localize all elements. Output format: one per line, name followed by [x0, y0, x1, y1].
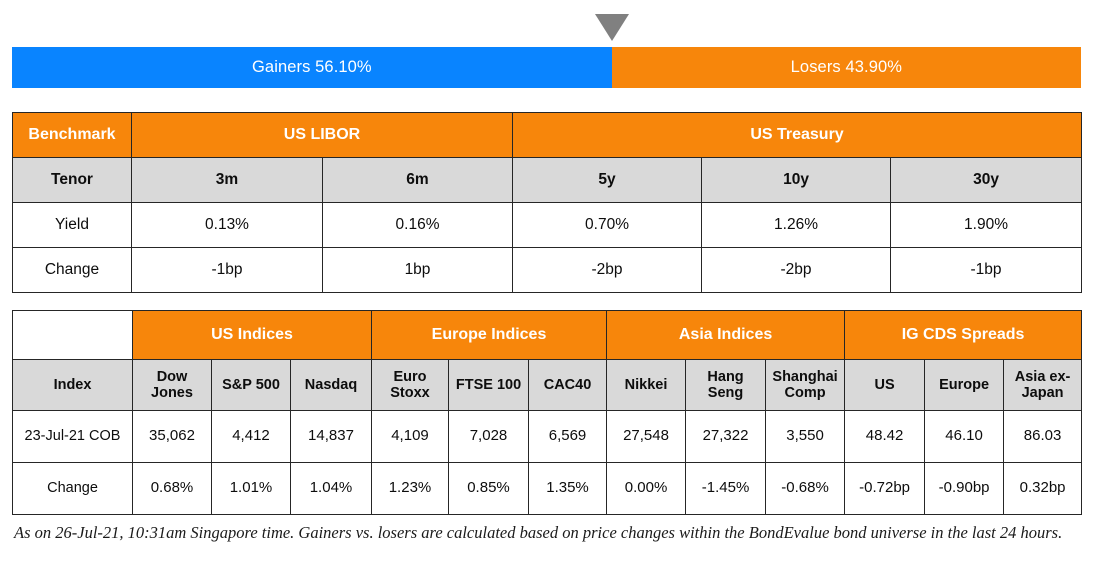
- cob-shanghai-comp: 3,550: [766, 411, 845, 463]
- cob-cds-us: 48.42: [845, 411, 925, 463]
- change-row-label: Change: [13, 248, 132, 293]
- sentiment-marker-row: [12, 12, 1081, 47]
- group-header-asia-indices: Asia Indices: [607, 311, 845, 360]
- gainers-segment[interactable]: Gainers 56.10%: [12, 47, 612, 88]
- change-nasdaq: 1.04%: [291, 463, 372, 515]
- yield-3m: 0.13%: [132, 203, 323, 248]
- change-sp-500: 1.01%: [212, 463, 291, 515]
- col-header-sp-500: S&P 500: [212, 360, 291, 411]
- cob-euro-stoxx: 4,109: [372, 411, 449, 463]
- change-dow-jones: 0.68%: [133, 463, 212, 515]
- footnote-text: As on 26-Jul-21, 10:31am Singapore time.…: [14, 521, 1064, 544]
- tenor-10y: 10y: [702, 158, 891, 203]
- change-cds-us: -0.72bp: [845, 463, 925, 515]
- cob-hang-seng: 27,322: [686, 411, 766, 463]
- col-header-ftse-100: FTSE 100: [449, 360, 529, 411]
- col-header-nikkei: Nikkei: [607, 360, 686, 411]
- cob-cds-asia-ex-japan: 86.03: [1004, 411, 1082, 463]
- group-header-us-treasury: US Treasury: [513, 113, 1082, 158]
- benchmark-corner-label: Benchmark: [13, 113, 132, 158]
- market-indices-table: US Indices Europe Indices Asia Indices I…: [12, 310, 1082, 515]
- index-row-label: Index: [13, 360, 133, 411]
- indices-column-header-row: Index Dow Jones S&P 500 Nasdaq Euro Stox…: [13, 360, 1082, 411]
- group-header-us-indices: US Indices: [133, 311, 372, 360]
- col-header-dow-jones: Dow Jones: [133, 360, 212, 411]
- cob-nasdaq: 14,837: [291, 411, 372, 463]
- losers-label: Losers 43.90%: [791, 58, 902, 77]
- indices-group-header-row: US Indices Europe Indices Asia Indices I…: [13, 311, 1082, 360]
- cob-row-label: 23-Jul-21 COB: [13, 411, 133, 463]
- benchmark-rates-table: Benchmark US LIBOR US Treasury Tenor 3m …: [12, 112, 1082, 293]
- col-header-shanghai-comp: Shanghai Comp: [766, 360, 845, 411]
- col-header-cds-europe: Europe: [925, 360, 1004, 411]
- yield-row-label: Yield: [13, 203, 132, 248]
- tenor-3m: 3m: [132, 158, 323, 203]
- tenor-row: Tenor 3m 6m 5y 10y 30y: [13, 158, 1082, 203]
- cob-sp-500: 4,412: [212, 411, 291, 463]
- col-header-cds-asia-ex-japan: Asia ex-Japan: [1004, 360, 1082, 411]
- change-nikkei: 0.00%: [607, 463, 686, 515]
- table-row: Change 0.68% 1.01% 1.04% 1.23% 0.85% 1.3…: [13, 463, 1082, 515]
- change-euro-stoxx: 1.23%: [372, 463, 449, 515]
- change-ftse-100: 0.85%: [449, 463, 529, 515]
- change-10y: -2bp: [702, 248, 891, 293]
- indices-corner-blank: [13, 311, 133, 360]
- col-header-nasdaq: Nasdaq: [291, 360, 372, 411]
- col-header-hang-seng: Hang Seng: [686, 360, 766, 411]
- benchmark-group-header-row: Benchmark US LIBOR US Treasury: [13, 113, 1082, 158]
- yield-30y: 1.90%: [891, 203, 1082, 248]
- tenor-row-label: Tenor: [13, 158, 132, 203]
- change-3m: -1bp: [132, 248, 323, 293]
- cob-cac40: 6,569: [529, 411, 607, 463]
- tenor-5y: 5y: [513, 158, 702, 203]
- gainers-losers-bar: Gainers 56.10% Losers 43.90%: [12, 47, 1081, 88]
- col-header-cac40: CAC40: [529, 360, 607, 411]
- cob-nikkei: 27,548: [607, 411, 686, 463]
- gainers-label: Gainers 56.10%: [252, 58, 372, 77]
- group-header-europe-indices: Europe Indices: [372, 311, 607, 360]
- market-sentiment-bar: Gainers 56.10% Losers 43.90%: [12, 12, 1081, 88]
- group-header-ig-cds-spreads: IG CDS Spreads: [845, 311, 1082, 360]
- losers-segment[interactable]: Losers 43.90%: [612, 47, 1081, 88]
- change-cds-europe: -0.90bp: [925, 463, 1004, 515]
- indices-change-row-label: Change: [13, 463, 133, 515]
- col-header-euro-stoxx: Euro Stoxx: [372, 360, 449, 411]
- tenor-30y: 30y: [891, 158, 1082, 203]
- change-6m: 1bp: [323, 248, 513, 293]
- yield-6m: 0.16%: [323, 203, 513, 248]
- table-row: Yield 0.13% 0.16% 0.70% 1.26% 1.90%: [13, 203, 1082, 248]
- tenor-6m: 6m: [323, 158, 513, 203]
- col-header-cds-us: US: [845, 360, 925, 411]
- group-header-us-libor: US LIBOR: [132, 113, 513, 158]
- change-cds-asia-ex-japan: 0.32bp: [1004, 463, 1082, 515]
- change-hang-seng: -1.45%: [686, 463, 766, 515]
- cob-ftse-100: 7,028: [449, 411, 529, 463]
- yield-10y: 1.26%: [702, 203, 891, 248]
- change-30y: -1bp: [891, 248, 1082, 293]
- change-cac40: 1.35%: [529, 463, 607, 515]
- cob-dow-jones: 35,062: [133, 411, 212, 463]
- change-5y: -2bp: [513, 248, 702, 293]
- split-marker-triangle-icon: [595, 14, 629, 41]
- change-shanghai-comp: -0.68%: [766, 463, 845, 515]
- yield-5y: 0.70%: [513, 203, 702, 248]
- cob-cds-europe: 46.10: [925, 411, 1004, 463]
- table-row: Change -1bp 1bp -2bp -2bp -1bp: [13, 248, 1082, 293]
- table-row: 23-Jul-21 COB 35,062 4,412 14,837 4,109 …: [13, 411, 1082, 463]
